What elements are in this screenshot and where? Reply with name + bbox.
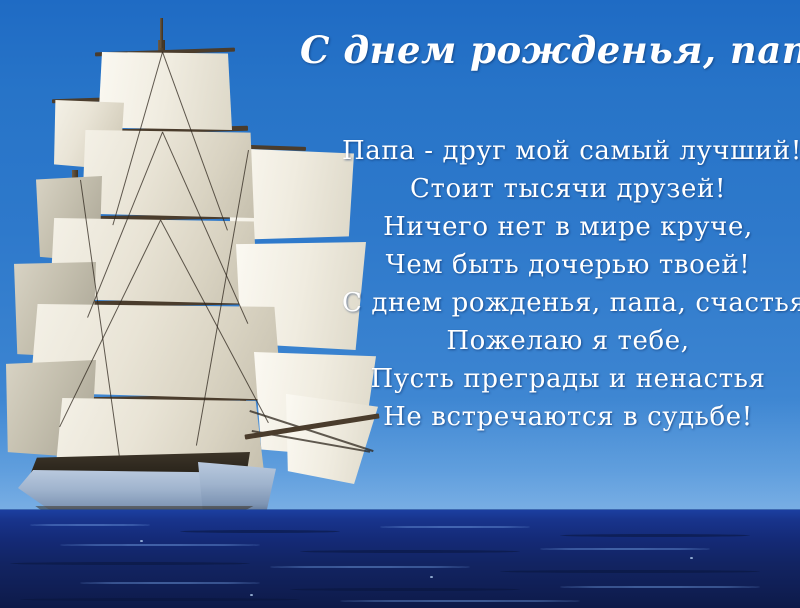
wave-trough: [500, 570, 760, 573]
wave-crest: [340, 600, 580, 602]
wave-crest: [80, 582, 260, 584]
card-title: С днем рожденья, папа!: [300, 28, 790, 72]
greeting-card: С днем рожденья, папа! Папа - друг мой с…: [0, 0, 800, 608]
sailing-ship-illustration: [0, 0, 380, 560]
sea-glint: [140, 540, 143, 542]
poem-line: Чем быть дочерью твоей!: [342, 246, 794, 284]
wave-crest: [560, 586, 760, 588]
poem-line: Стоит тысячи друзей!: [342, 170, 794, 208]
poem-line: Ничего нет в мире круче,: [342, 208, 794, 246]
sea-glint: [250, 594, 253, 596]
poem-block: Папа - друг мой самый лучший! Стоит тыся…: [342, 132, 794, 436]
wave-crest: [540, 548, 710, 550]
sea-background: [0, 510, 800, 608]
poem-line: Пусть преграды и ненастья: [342, 360, 794, 398]
wave-crest: [30, 524, 150, 526]
wave-crest: [270, 566, 470, 568]
poem-line: С днем рожденья, папа, счастья: [342, 284, 794, 322]
wave-crest: [60, 544, 260, 546]
wave-trough: [290, 588, 520, 591]
wave-trough: [20, 598, 300, 601]
topmast-pole: [160, 18, 163, 48]
poem-line: Пожелаю я тебе,: [342, 322, 794, 360]
poem-line: Папа - друг мой самый лучший!: [342, 132, 794, 170]
wave-trough: [560, 534, 750, 537]
poem-line: Не встречаются в судьбе!: [342, 398, 794, 436]
wave-trough: [300, 550, 520, 553]
wave-trough: [10, 562, 250, 565]
sea-glint: [430, 576, 433, 578]
wave-crest: [380, 526, 530, 528]
wave-trough: [180, 530, 340, 533]
sea-glint: [690, 557, 693, 559]
